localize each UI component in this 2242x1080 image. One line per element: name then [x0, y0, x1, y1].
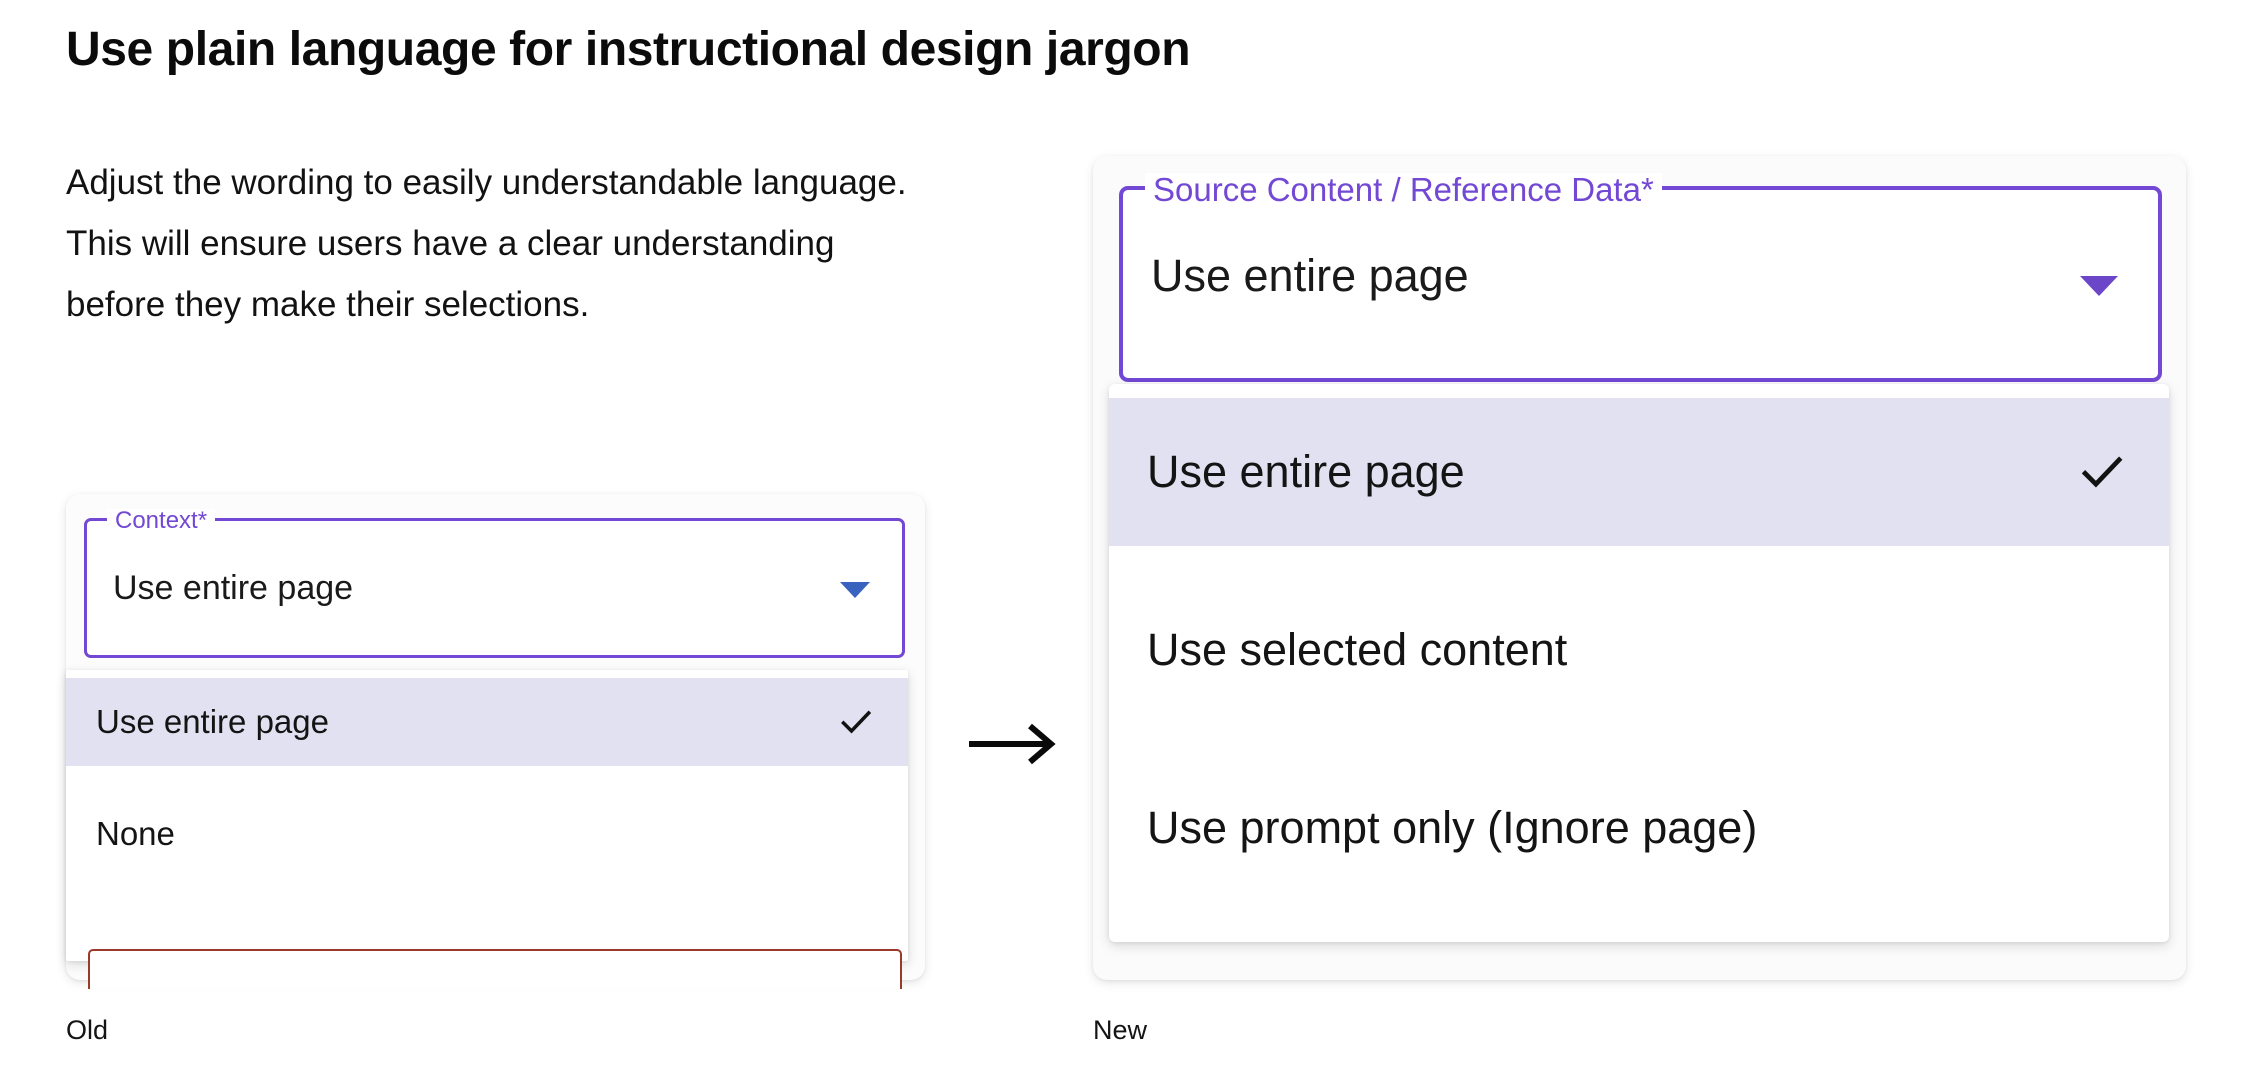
new-caption: New — [1093, 1015, 1147, 1046]
list-item[interactable]: Use entire page — [1109, 398, 2169, 546]
old-caption: Old — [66, 1015, 108, 1046]
list-item[interactable]: None — [66, 790, 908, 878]
check-icon — [836, 702, 876, 742]
new-variant-card: Source Content / Reference Data* Use ent… — [1093, 156, 2186, 980]
arrow-right-icon — [967, 722, 1063, 766]
menu-item-label: None — [96, 815, 876, 853]
menu-item-label: Use entire page — [96, 703, 836, 741]
menu-item-label: Use entire page — [1147, 446, 2075, 498]
check-icon — [2075, 445, 2129, 499]
menu-item-label: Use prompt only (Ignore page) — [1147, 802, 2129, 854]
source-content-select-label: Source Content / Reference Data* — [1145, 173, 1662, 206]
context-select-value: Use entire page — [113, 569, 353, 608]
context-select-label: Context* — [107, 509, 215, 533]
menu-item-label: Use selected content — [1147, 624, 2129, 676]
context-select-menu[interactable]: Use entire page None — [66, 670, 908, 961]
menu-divider — [66, 766, 908, 790]
list-item[interactable]: Use prompt only (Ignore page) — [1109, 754, 2169, 902]
old-variant-card: Context* Use entire page Use entire page… — [66, 494, 925, 980]
truncated-field-below — [88, 949, 902, 989]
source-content-select-menu[interactable]: Use entire page Use selected content Use… — [1109, 384, 2169, 942]
menu-divider — [1109, 724, 2169, 754]
menu-divider — [1109, 546, 2169, 576]
context-select[interactable]: Context* Use entire page — [84, 518, 905, 658]
source-content-select[interactable]: Source Content / Reference Data* Use ent… — [1119, 186, 2162, 382]
list-item[interactable]: Use selected content — [1109, 576, 2169, 724]
chevron-down-icon[interactable] — [840, 582, 870, 598]
before-after-comparison: Context* Use entire page Use entire page… — [0, 0, 2242, 1080]
source-content-select-value: Use entire page — [1151, 250, 1469, 302]
chevron-down-icon[interactable] — [2080, 276, 2118, 296]
list-item[interactable]: Use entire page — [66, 678, 908, 766]
